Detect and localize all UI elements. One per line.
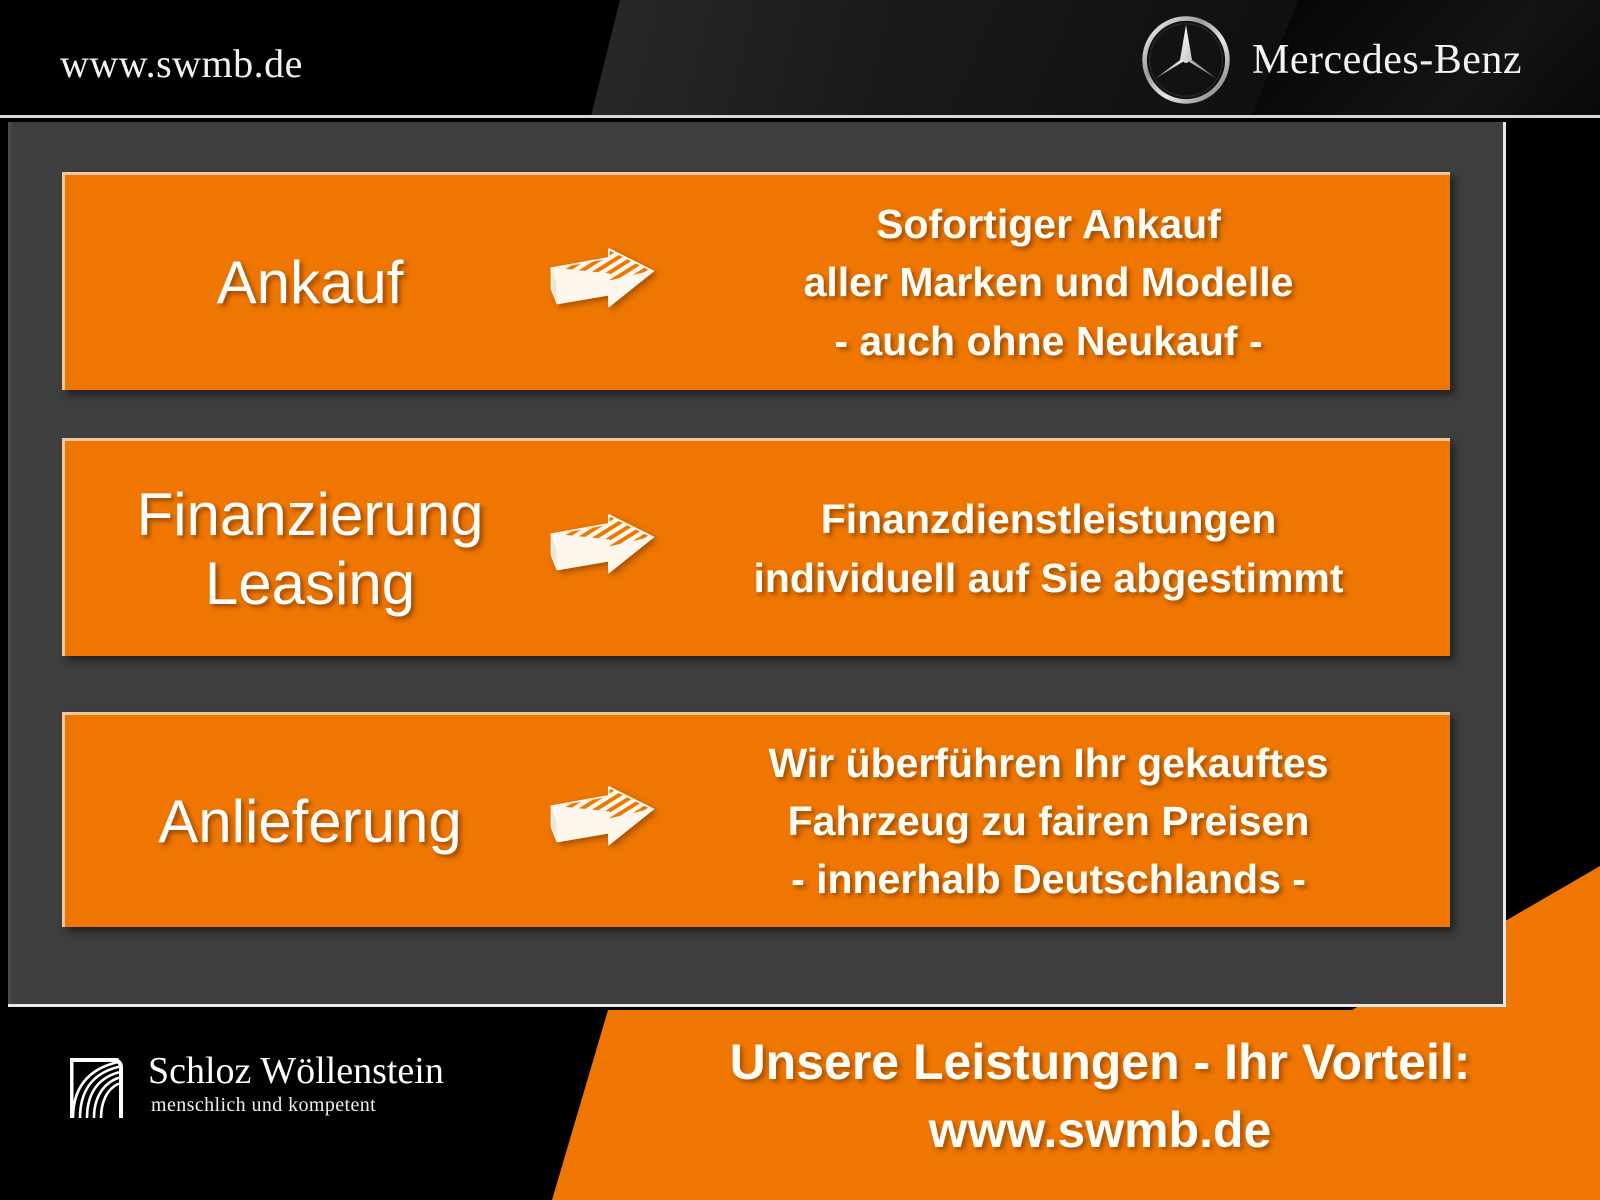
arrow-right-icon xyxy=(535,512,665,586)
service-description-anlieferung: Wir überführen Ihr gekauftes Fahrzeug zu… xyxy=(665,734,1450,909)
schloz-woellenstein-logo[interactable]: Schloz Wöllenstein menschlich und kompet… xyxy=(62,1048,444,1118)
service-title-ankauf: Ankauf xyxy=(65,248,535,317)
footer-company-tagline: menschlich und kompetent xyxy=(148,1094,444,1117)
footer-headline: Unsere Leistungen - Ihr Vorteil: xyxy=(620,1032,1580,1092)
arrow-right-icon xyxy=(535,246,665,320)
arrow-right-icon xyxy=(535,784,665,858)
header-site-url[interactable]: www.swmb.de xyxy=(60,40,303,87)
footer-bar: Schloz Wöllenstein menschlich und kompet… xyxy=(0,1010,1600,1200)
slide-canvas: www.swmb.de xyxy=(0,0,1600,1200)
header-divider xyxy=(0,115,1600,118)
service-panel-finanzierung-leasing[interactable]: Finanzierung Leasing Finanz xyxy=(62,438,1450,656)
mercedes-benz-wordmark: Mercedes-Benz xyxy=(1252,36,1522,84)
footer-url[interactable]: www.swmb.de xyxy=(620,1100,1580,1160)
mercedes-star-icon xyxy=(1140,14,1232,106)
service-title-anlieferung: Anlieferung xyxy=(65,787,535,856)
service-title-finanzierung-leasing: Finanzierung Leasing xyxy=(65,480,535,618)
service-panel-anlieferung[interactable]: Anlieferung Wir überführen Ihr geka xyxy=(62,712,1450,927)
schloz-woellenstein-logo-icon xyxy=(62,1048,132,1118)
service-description-finanzierung-leasing: Finanzdienstleistungen individuell auf S… xyxy=(665,490,1450,606)
service-description-ankauf: Sofortiger Ankauf aller Marken und Model… xyxy=(665,195,1450,370)
content-frame: Ankauf xyxy=(8,122,1506,1007)
service-panel-ankauf[interactable]: Ankauf xyxy=(62,172,1450,390)
mercedes-benz-logo: Mercedes-Benz xyxy=(1140,14,1522,106)
footer-company-name: Schloz Wöllenstein xyxy=(148,1052,444,1092)
footer-message: Unsere Leistungen - Ihr Vorteil: www.swm… xyxy=(620,1032,1580,1160)
